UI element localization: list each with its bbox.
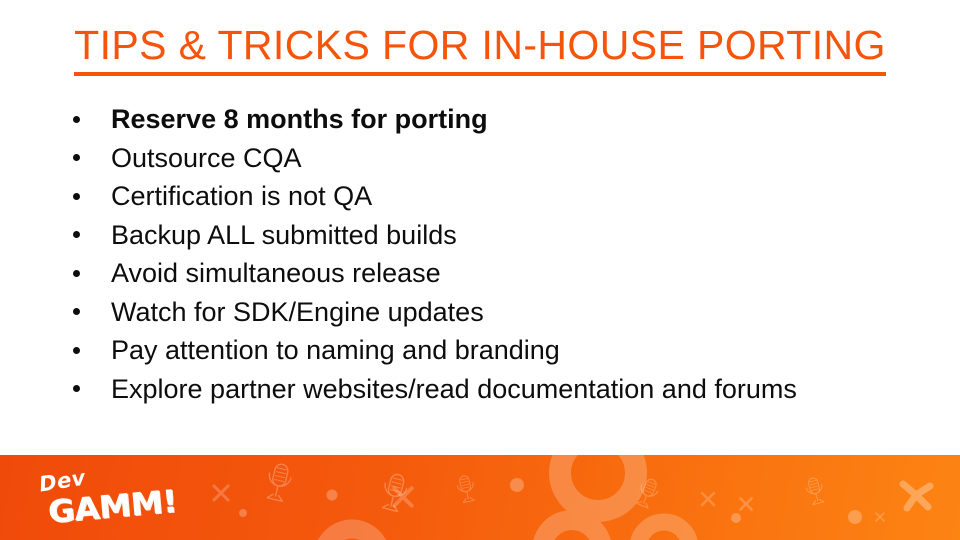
microphone-icon xyxy=(456,474,477,503)
list-item: Outsource CQA xyxy=(64,139,914,178)
list-item: Certification is not QA xyxy=(64,177,914,216)
bullet-dot-icon xyxy=(73,385,80,392)
list-item-label: Avoid simultaneous release xyxy=(111,258,441,288)
bullet-dot-icon xyxy=(73,347,80,354)
list-item: Avoid simultaneous release xyxy=(64,254,914,293)
list-item-label: Explore partner websites/read documentat… xyxy=(111,374,797,404)
bullet-dot-icon xyxy=(73,270,80,277)
list-item-label: Certification is not QA xyxy=(111,181,372,211)
footer-banner: Dev GAMM! xyxy=(0,455,960,540)
x-mark-icon xyxy=(876,513,884,521)
title-block: TIPS & TRICKS FOR IN-HOUSE PORTING xyxy=(0,24,960,76)
list-item: Watch for SDK/Engine updates xyxy=(64,293,914,332)
list-item: Pay attention to naming and branding xyxy=(64,331,914,370)
bullet-dot-icon xyxy=(73,308,80,315)
bullet-dot-icon xyxy=(73,231,80,238)
list-item-label: Outsource CQA xyxy=(111,143,302,173)
sparkle-icon xyxy=(903,484,930,508)
list-item: Backup ALL submitted builds xyxy=(64,216,914,255)
presentation-slide: TIPS & TRICKS FOR IN-HOUSE PORTING Reser… xyxy=(0,0,960,540)
list-item-label: Reserve 8 months for porting xyxy=(111,104,488,134)
x-mark-icon xyxy=(740,498,751,509)
list-item: Reserve 8 months for porting xyxy=(64,100,914,139)
list-item: Explore partner websites/read documentat… xyxy=(64,370,914,409)
bullet-dot-icon xyxy=(73,193,80,200)
x-mark-icon xyxy=(702,493,714,505)
list-item-label: Backup ALL submitted builds xyxy=(111,220,457,250)
bullet-list: Reserve 8 months for porting Outsource C… xyxy=(64,100,914,408)
bullet-dot-icon xyxy=(73,116,80,123)
bullet-dot-icon xyxy=(73,154,80,161)
microphone-icon xyxy=(264,462,294,502)
x-mark-icon xyxy=(214,486,228,500)
list-item-label: Pay attention to naming and branding xyxy=(111,335,560,365)
devgamm-logo: Dev GAMM! xyxy=(33,469,183,527)
list-item-label: Watch for SDK/Engine updates xyxy=(111,297,484,327)
microphone-icon xyxy=(804,476,826,505)
page-title: TIPS & TRICKS FOR IN-HOUSE PORTING xyxy=(74,24,886,76)
